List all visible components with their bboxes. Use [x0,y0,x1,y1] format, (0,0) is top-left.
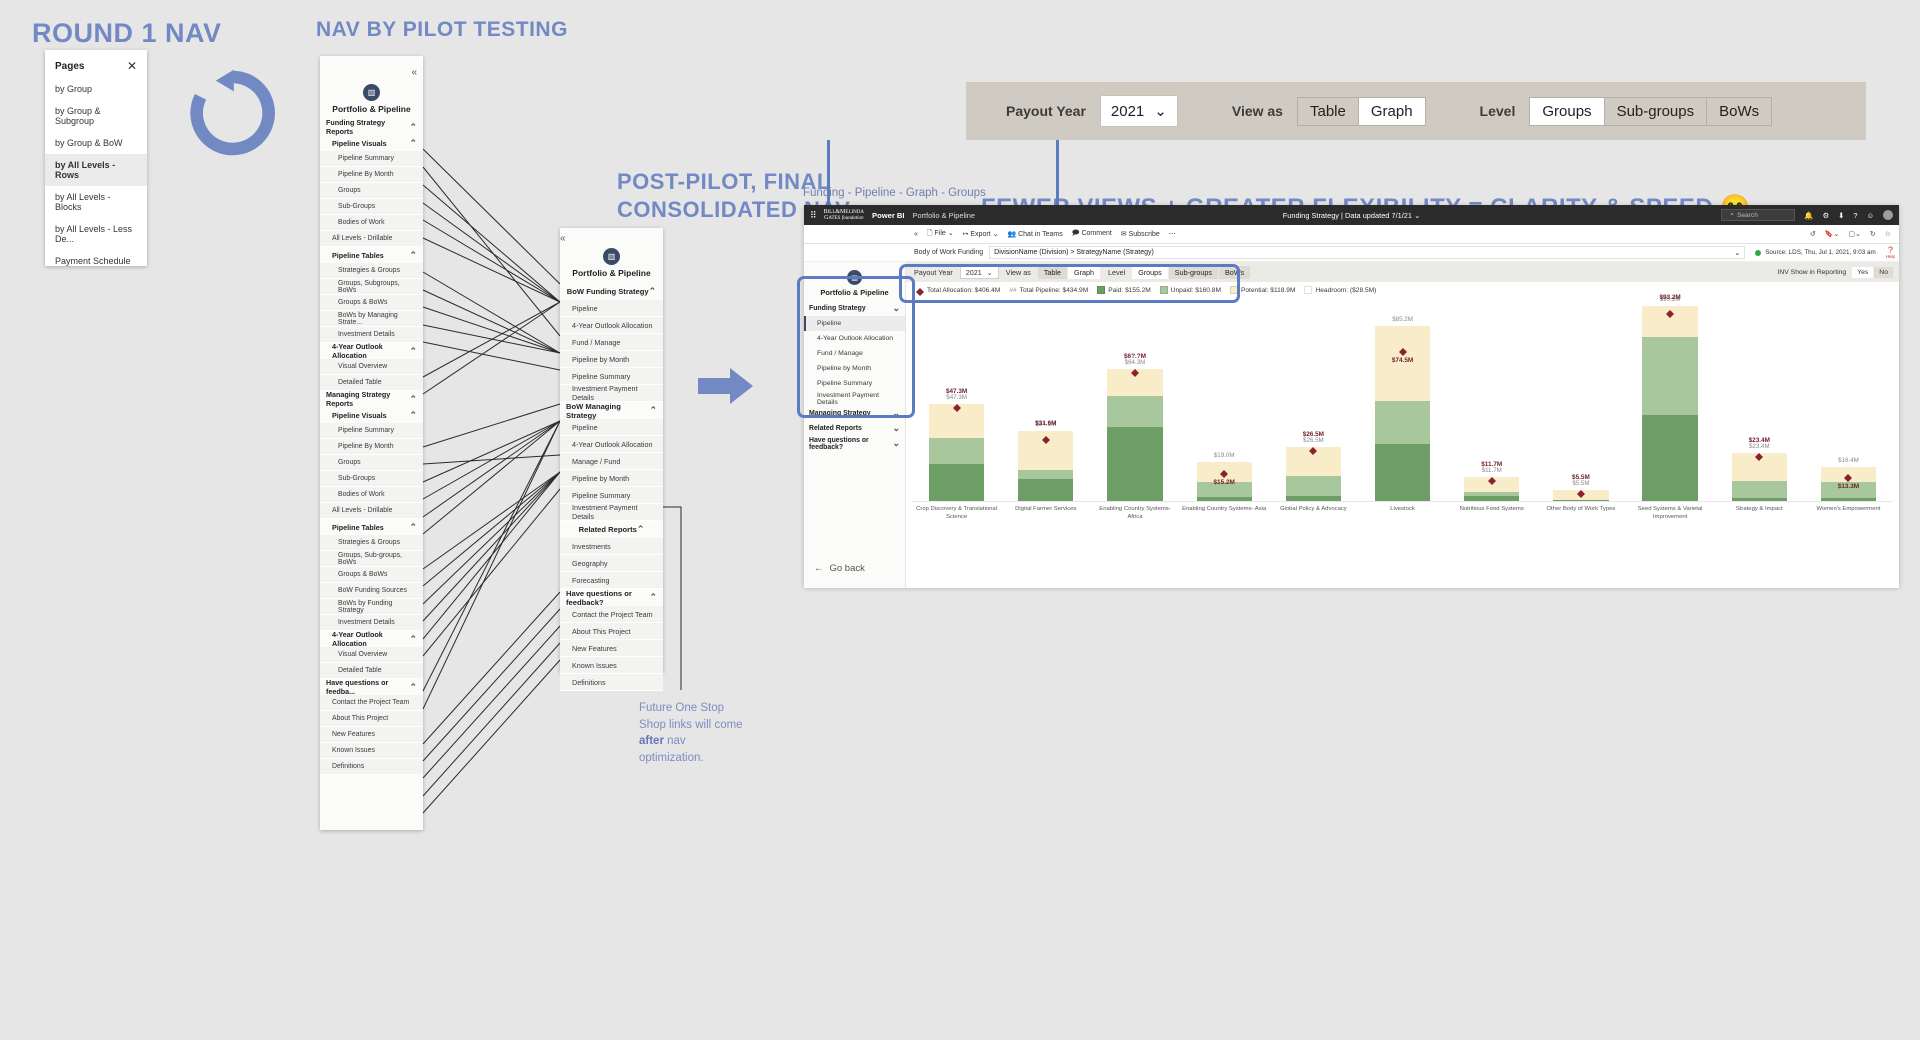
chevron-up-icon[interactable]: ⌃ [409,522,417,533]
final-nav-item[interactable]: Pipeline by Month [560,351,663,368]
final-nav-list: BoW Funding Strategy⌃Pipeline4-Year Outl… [560,283,663,691]
chevron-up-icon[interactable]: ⌃ [409,634,417,645]
close-icon[interactable]: ✕ [127,60,137,72]
refresh-icon[interactable]: ↻ [1870,230,1876,238]
chart-bar[interactable]: $47.3M$47.3M [912,296,1001,501]
segment-paid [929,464,984,501]
pilot-nav-item[interactable]: Strategies & Groups [320,263,423,279]
bar-stack: $85.2M$74.5M [1375,326,1430,501]
breadcrumb: Funding - Pipeline - Graph - Groups [803,187,986,199]
pilot-nav-label: Bodies of Work [338,219,385,226]
final-nav-label: Pipeline Summary [572,491,630,500]
bar-stack: $23.4M$23.4M [1732,453,1787,501]
final-nav-label: Contact the Project Team [572,610,653,619]
x-axis-tick-label: Enabling Country Systems- Africa [1090,506,1179,521]
pilot-nav-group[interactable]: 4-Year Outlook Allocation⌃ [320,343,423,359]
pilot-nav-label: Sub-Groups [338,203,375,210]
pilot-nav-group[interactable]: Pipeline Tables⌃ [320,519,423,535]
chart-bar[interactable]: $85.2M$74.5M [1358,296,1447,501]
round1-page-item-label: by All Levels - Rows [55,160,115,180]
pilot-nav-group[interactable]: Funding Strategy Reports⌃ [320,119,423,135]
reset-icon[interactable]: ↺ [1810,230,1816,238]
pilot-nav-item[interactable]: Strategies & Groups [320,535,423,551]
view-as-option[interactable]: Table [1298,98,1359,125]
final-nav-label: Have questions or feedback? [566,589,649,607]
pilot-nav-label: Pipeline Summary [338,155,394,162]
pilot-nav-label: Known Issues [332,747,375,754]
pilot-nav-label: Pipeline Visuals [332,411,387,420]
bar-stack: $47.3M$47.3M [929,404,984,501]
segment-unpaid [1642,337,1697,415]
chart-bar[interactable]: $95.2M$93.2M [1626,296,1715,501]
final-nav-item[interactable]: Pipeline Summary [560,487,663,504]
pilot-nav-label: Pipeline Visuals [332,139,387,148]
final-nav-item[interactable]: Known Issues [560,657,663,674]
final-nav-label: Forecasting [572,576,610,585]
final-nav-item[interactable]: New Features [560,640,663,657]
pilot-nav-item[interactable]: BoWs by Funding Strategy [320,599,423,615]
chevron-up-icon[interactable]: ⌃ [649,592,657,603]
round1-panel-title: Pages [55,61,84,72]
pilot-nav-item[interactable]: Bodies of Work [320,215,423,231]
collapse-icon[interactable]: « [411,67,417,78]
round1-page-item-label: by Group & BoW [55,138,123,148]
total-allocation-label: $31.6M [1004,420,1087,427]
round1-page-list: by Groupby Group & Subgroupby Group & Bo… [45,78,147,272]
final-nav-group[interactable]: BoW Managing Strategy⌃ [560,402,663,419]
pilot-nav-label: 4-Year Outlook Allocation [332,630,409,648]
portfolio-pipeline-logo-icon: ▥ [603,248,620,265]
pilot-nav-label: BoWs by Funding Strategy [338,600,417,614]
pilot-nav-item[interactable]: Groups, Subgroups, BoWs [320,279,423,295]
pilot-nav-item[interactable]: Groups & BoWs [320,567,423,583]
pilot-nav-item[interactable]: All Levels - Drillable [320,231,423,247]
report-title-text: Funding Strategy | Data updated 7/1/21 [1283,211,1412,220]
final-nav-item[interactable]: Forecasting [560,572,663,589]
segment-paid [1642,415,1697,501]
chart-bar[interactable]: $34.2M$31.6M [1001,296,1090,501]
footnote-line-2: Shop links will [639,719,711,731]
inv-show-in-reporting-option[interactable]: No [1874,267,1893,278]
final-nav-item[interactable]: Pipeline [560,300,663,317]
collapse-icon[interactable]: « [560,233,566,244]
pilot-nav-label: Visual Overview [338,651,387,658]
chevron-up-icon[interactable]: ⌃ [409,138,417,149]
segment-unpaid [1375,401,1430,444]
report-canvas: Payout Year 2021 ⌄ View as TableGraph Le… [906,262,1899,588]
final-nav-label: Pipeline Summary [572,372,630,381]
pilot-nav-item[interactable]: Investment Details [320,327,423,343]
app-nav-group[interactable]: Have questions or feedback?⌄ [804,436,905,451]
pilot-nav-group[interactable]: Have questions or feedba...⌃ [320,679,423,695]
payout-year-select[interactable]: 2021 ⌄ [1100,95,1178,127]
file-menu-label: File [934,230,945,237]
chart-bar[interactable]: $11.7M$11.7M [1447,296,1536,501]
final-nav-label: About This Project [572,627,631,636]
powerbi-report-screenshot: ⠿ BILL&MELINDA GATES foundation Power BI… [804,205,1899,587]
logo-line-1: BILL&MELINDA [824,209,864,215]
pilot-nav-label: Groups [338,459,361,466]
chevron-up-icon[interactable]: ⌃ [637,524,645,535]
total-allocation-marker [1666,306,1674,314]
round1-pages-panel: Pages ✕ by Groupby Group & Subgroupby Gr… [45,50,147,266]
final-nav-label: Pipeline [572,304,598,313]
search-placeholder: Search [1737,212,1758,219]
chevron-up-icon[interactable]: ⌃ [409,410,417,421]
chart-bar[interactable]: $19.0M$15.2M [1180,296,1269,501]
segment-paid [1018,479,1073,501]
pilot-nav-label: Funding Strategy Reports [326,118,409,136]
annotation-highlight-controls [899,264,1240,303]
pilot-nav-item[interactable]: Groups, Sub-groups, BoWs [320,551,423,567]
total-allocation-marker [1220,466,1228,474]
pilot-nav-label: Pipeline By Month [338,443,394,450]
pilot-nav-item[interactable]: About This Project [320,711,423,727]
logo-line-2: GATES foundation [824,215,863,221]
pilot-nav-label: Detailed Table [338,379,382,386]
final-nav-item[interactable]: Contact the Project Team [560,606,663,623]
final-nav-label: Pipeline [572,423,598,432]
download-icon[interactable]: ⬇ [1838,211,1844,220]
help-icon-label: Help [1886,255,1895,260]
arrow-left-icon: ← [814,563,824,574]
pilot-nav-item[interactable]: Groups [320,455,423,471]
x-axis-tick-label: Women's Empowerment [1804,506,1893,521]
app-nav-label: Related Reports [809,425,862,432]
round1-page-item[interactable]: Payment Schedule [45,250,147,272]
pilot-nav-item[interactable]: Sub-Groups [320,199,423,215]
segment-paid [1107,427,1162,501]
segment-paid [1375,444,1430,501]
pilot-nav-label: Visual Overview [338,363,387,370]
file-menu-button[interactable]: 🗋 File ⌄ [927,229,954,240]
pilot-nav-item[interactable]: Pipeline Summary [320,423,423,439]
chart-bar[interactable]: $5.5M$5.5M [1536,296,1625,501]
final-nav-item[interactable]: Pipeline Summary [560,368,663,385]
export-menu-label: Export [970,231,990,238]
pilot-nav-item[interactable]: Detailed Table [320,375,423,391]
search-input[interactable]: ⌕ Search [1721,209,1795,221]
final-nav-label: Investments [572,542,611,551]
pilot-nav-item[interactable]: BoWs by Managing Strate... [320,311,423,327]
slide-canvas: ROUND 1 NAV NAV BY PILOT TESTING POST-PI… [0,0,1920,1040]
chevron-down-icon[interactable]: ⌄ [892,423,900,434]
product-name[interactable]: Power BI [872,211,905,220]
level-option[interactable]: BoWs [1707,98,1771,125]
view-as-segmented-control: TableGraph [1297,97,1426,126]
comment-button[interactable]: 🗩 Comment [1072,229,1112,240]
segment-unpaid [1107,396,1162,427]
report-title-and-data-updated[interactable]: Funding Strategy | Data updated 7/1/21 ⌄ [1283,211,1421,220]
chevron-down-icon[interactable]: ⌄ [892,438,900,449]
final-nav-item[interactable]: About This Project [560,623,663,640]
pilot-nav-item[interactable]: Pipeline Summary [320,151,423,167]
footnote-line-3c: nav [664,735,686,747]
level-option[interactable]: Sub-groups [1605,98,1708,125]
chat-in-teams-button[interactable]: 👥 Chat in Teams [1007,230,1062,238]
pilot-nav-panel: « ▥ Portfolio & Pipeline Funding Strateg… [320,56,423,830]
final-nav-group[interactable]: Related Reports⌃ [560,521,663,538]
settings-gear-icon[interactable]: ⚙ [1822,211,1829,220]
legend-entry[interactable]: Headroom: ($28.5M) [1304,286,1376,294]
total-allocation-label: $47.3M [915,388,998,395]
round1-page-item[interactable]: by Group & Subgroup [45,100,147,132]
final-nav-label: Pipeline by Month [572,355,629,364]
collapse-nav-icon[interactable]: « [914,231,918,238]
final-nav-item[interactable]: Investment Payment Details [560,504,663,521]
arrow-right-icon [698,366,753,406]
round1-page-item-label: by Group & Subgroup [55,106,101,126]
segment-paid [1464,496,1519,501]
final-nav-item[interactable]: Manage / Fund [560,453,663,470]
final-nav-label: Definitions [572,678,606,687]
final-nav-group[interactable]: BoW Funding Strategy⌃ [560,283,663,300]
pilot-nav-item[interactable]: Sub-Groups [320,471,423,487]
pilot-nav-group[interactable]: Pipeline Tables⌃ [320,247,423,263]
avatar[interactable] [1883,210,1893,220]
search-icon: ⌕ [1730,211,1734,219]
heading-nav-by-pilot-testing: NAV BY PILOT TESTING [316,18,568,42]
pilot-nav-label: Contact the Project Team [332,699,409,706]
pilot-nav-label: BoW Funding Sources [338,587,407,594]
total-allocation-marker [1755,449,1763,457]
notifications-icon[interactable]: 🔔 [1804,211,1813,220]
chart-bar[interactable]: $64.3M$6?.?M [1090,296,1179,501]
final-nav-label: Known Issues [572,661,617,670]
pilot-nav-item[interactable]: Known Issues [320,743,423,759]
status-dot-green [1755,250,1761,256]
pilot-nav-label: Sub-Groups [338,475,375,482]
go-back-button[interactable]: ← Go back [814,563,865,574]
final-nav-item[interactable]: Definitions [560,674,663,691]
subscribe-button[interactable]: ✉ Subscribe [1121,230,1160,238]
app-filter-bar: Body of Work Funding DivisionName (Divis… [804,244,1899,262]
callout-control-bar: Payout Year 2021 ⌄ View as TableGraph Le… [966,82,1866,140]
pilot-nav-group[interactable]: 4-Year Outlook Allocation⌃ [320,631,423,647]
pilot-nav-label: BoWs by Managing Strate... [338,312,417,326]
pilot-nav-label: Have questions or feedba... [326,678,409,696]
bar-stack: $11.7M$11.7M [1464,477,1519,501]
pilot-nav-item[interactable]: Groups [320,183,423,199]
chevron-down-icon: ⌄ [1414,211,1420,220]
round1-page-item[interactable]: by All Levels - Less De... [45,218,147,250]
pilot-nav-label: About This Project [332,715,388,722]
pilot-nav-item[interactable]: BoW Funding Sources [320,583,423,599]
pilot-nav-item[interactable]: Pipeline By Month [320,167,423,183]
chat-in-teams-label: Chat in Teams [1018,231,1063,238]
app-launcher-icon[interactable]: ⠿ [810,210,816,221]
help-icon[interactable]: ? Help [1886,246,1899,260]
segment-unpaid [929,438,984,464]
final-nav-item[interactable]: Pipeline by Month [560,470,663,487]
chart-plot-area: $47.3M$47.3M$34.2M$31.6M$64.3M$6?.?M$19.… [912,296,1893,501]
total-allocation-label: $5.5M [1539,474,1622,481]
pilot-nav-item[interactable]: Investment Details [320,615,423,631]
chevron-down-icon: ⌄ [1154,102,1167,120]
round1-page-item-label: by All Levels - Less De... [55,224,132,244]
chart-bar[interactable]: $16.4M$13.3M [1804,296,1893,501]
final-nav-item[interactable]: Pipeline [560,419,663,436]
app-nav-group[interactable]: Related Reports⌄ [804,421,905,436]
bar-total-pipeline-label: $16.4M [1813,457,1885,464]
x-axis-tick-label: Other Body of Work Types [1536,506,1625,521]
final-nav-label: Geography [572,559,608,568]
chevron-up-icon[interactable]: ⌃ [409,122,417,133]
segment-paid [1821,498,1876,501]
portfolio-pipeline-logo-icon: ▥ [363,84,380,101]
pilot-nav-group[interactable]: Managing Strategy Reports⌃ [320,391,423,407]
pilot-nav-label: Investment Details [338,331,395,338]
final-nav-item[interactable]: Investment Payment Details [560,385,663,402]
footnote-emphasis: after [639,735,664,747]
pilot-nav-label: Groups & BoWs [338,571,387,578]
footnote-future-one-stop-shop: Future One Stop Shop links will come aft… [639,700,749,767]
final-nav-item[interactable]: 4-Year Outlook Allocation [560,436,663,453]
round1-page-item-label: by Group [55,84,92,94]
chevron-up-icon[interactable]: ⌃ [409,394,417,405]
pilot-nav-item[interactable]: All Levels - Drillable [320,503,423,519]
pilot-nav-label: Bodies of Work [338,491,385,498]
segment-unpaid [1018,470,1073,479]
total-allocation-marker [1309,443,1317,451]
app-top-bar: ⠿ BILL&MELINDA GATES foundation Power BI… [804,205,1899,225]
final-consolidated-nav-panel: « ▥ Portfolio & Pipeline BoW Funding Str… [560,228,663,672]
inv-show-in-reporting-group: INV Show in Reporting YesNo [1777,267,1899,278]
pilot-nav-item[interactable]: Pipeline By Month [320,439,423,455]
x-axis-tick-label: Enabling Country Systems- Asia [1180,506,1269,521]
final-nav-label: Investment Payment Details [572,384,657,402]
workspace-name[interactable]: Portfolio & Pipeline [913,211,975,220]
hierarchy-filter-select[interactable]: DivisionName (Division) > StrategyName (… [989,246,1745,259]
pilot-nav-item[interactable]: Definitions [320,759,423,775]
chart-bar[interactable]: $23.4M$23.4M [1715,296,1804,501]
level-segmented-control: GroupsSub-groupsBoWs [1529,97,1772,126]
chevron-up-icon[interactable]: ⌃ [649,286,657,297]
final-nav-item[interactable]: Fund / Manage [560,334,663,351]
payout-year-label: Payout Year [1006,103,1086,119]
pilot-nav-item[interactable]: New Features [320,727,423,743]
view-as-option[interactable]: Graph [1359,98,1425,125]
inv-show-in-reporting-option[interactable]: Yes [1852,267,1873,278]
round1-panel-header: Pages ✕ [45,50,147,78]
chart-bar[interactable]: $26.5M$26.5M [1269,296,1358,501]
favorite-star-icon[interactable]: ☆ [1885,230,1891,238]
refresh-cycle-icon [186,68,278,158]
inv-yes-no-toggle: YesNo [1851,267,1893,278]
pilot-nav-group[interactable]: Pipeline Visuals⌃ [320,135,423,151]
total-allocation-marker [1488,473,1496,481]
total-allocation-label: $93.2M [1629,294,1712,301]
round1-page-item[interactable]: by All Levels - Blocks [45,186,147,218]
feedback-smiley-icon[interactable]: ☺ [1866,211,1874,220]
segment-paid [1732,498,1787,501]
stacked-bar-chart: $47.3M$47.3M$34.2M$31.6M$64.3M$6?.?M$19.… [906,296,1899,558]
go-back-label: Go back [830,563,865,574]
total-allocation-marker [953,400,961,408]
final-nav-label: Investment Payment Details [572,503,657,521]
final-nav-label: New Features [572,644,617,653]
chevron-up-icon[interactable]: ⌃ [649,405,657,416]
data-source-note: Source: LDS, Thu, Jul 1, 2021, 9:03 am [1751,249,1880,256]
round1-page-item[interactable]: by Group & BoW [45,132,147,154]
export-menu-button[interactable]: ↦ Export ⌄ [963,230,999,238]
total-allocation-label: $11.7M [1450,461,1533,468]
total-allocation-label: $13.3M [1807,483,1890,490]
round1-page-item-label: Payment Schedule [55,256,131,266]
chevron-down-icon: ⌄ [1734,249,1740,257]
pilot-nav-item[interactable]: Visual Overview [320,359,423,375]
final-nav-label: 4-Year Outlook Allocation [572,440,652,449]
pilot-nav-item[interactable]: Detailed Table [320,663,423,679]
bar-stack: $16.4M$13.3M [1821,467,1876,501]
footnote-line-1: Future One Stop [639,702,724,714]
pilot-nav-label: Investment Details [338,619,395,626]
round1-page-item[interactable]: by All Levels - Rows [45,154,147,186]
segment-paid [1197,497,1252,501]
pilot-nav-item[interactable]: Groups & BoWs [320,295,423,311]
pilot-nav-item[interactable]: Contact the Project Team [320,695,423,711]
pilot-nav-label: Pipeline Tables [332,523,384,532]
chevron-up-icon[interactable]: ⌃ [409,682,417,693]
bar-stack: $5.5M$5.5M [1553,490,1608,501]
pilot-nav-label: Groups, Sub-groups, BoWs [338,552,417,566]
round1-page-item[interactable]: by Group [45,78,147,100]
help-question-icon[interactable]: ? [1853,211,1857,220]
total-allocation-label: $15.2M [1183,479,1266,486]
more-options-icon[interactable]: ⋯ [1169,230,1176,238]
pilot-nav-label: Definitions [332,763,364,770]
annotation-highlight-nav [797,276,915,418]
final-nav-item[interactable]: Geography [560,555,663,572]
pilot-nav-group[interactable]: Pipeline Visuals⌃ [320,407,423,423]
pilot-nav-label: All Levels - Drillable [332,235,393,242]
final-nav-item[interactable]: Investments [560,538,663,555]
final-nav-label: 4-Year Outlook Allocation [572,321,652,330]
pilot-nav-label: Groups [338,187,361,194]
pilot-nav-label: Pipeline Tables [332,251,384,260]
body-of-work-funding-label: Body of Work Funding [914,249,983,256]
total-allocation-marker [1399,344,1407,352]
pilot-nav-label: Strategies & Groups [338,267,400,274]
final-nav-group[interactable]: Have questions or feedback?⌃ [560,589,663,606]
chevron-up-icon[interactable]: ⌃ [409,346,417,357]
pilot-nav-item[interactable]: Visual Overview [320,647,423,663]
level-label: Level [1480,103,1516,119]
inv-show-in-reporting-label: INV Show in Reporting [1777,269,1846,276]
data-source-text: Source: LDS, Thu, Jul 1, 2021, 9:03 am [1765,249,1876,256]
bar-stack: $34.2M$31.6M [1018,431,1073,501]
chevron-up-icon[interactable]: ⌃ [409,250,417,261]
x-axis-tick-label: Crop Discovery & Translational Science [912,506,1001,521]
pilot-nav-item[interactable]: Bodies of Work [320,487,423,503]
bookmark-icon[interactable]: 🔖⌄ [1825,230,1840,238]
pilot-nav-label: New Features [332,731,375,738]
view-icon[interactable]: ▢⌄ [1848,230,1860,238]
total-allocation-marker [1577,486,1585,494]
pilot-nav-list: Funding Strategy Reports⌃Pipeline Visual… [320,119,423,775]
pilot-nav-label: Managing Strategy Reports [326,390,409,408]
footnote-line-3a: come [714,719,742,731]
view-as-label: View as [1232,103,1283,119]
final-panel-collapse-row: « [560,228,663,246]
bar-stack: $19.0M$15.2M [1197,462,1252,501]
gates-foundation-logo: BILL&MELINDA GATES foundation [824,209,864,222]
final-nav-label: BoW Funding Strategy [567,287,649,296]
chart-x-axis: Crop Discovery & Translational ScienceDi… [912,501,1893,521]
payout-year-value: 2021 [1111,103,1144,120]
level-option[interactable]: Groups [1530,98,1604,125]
final-nav-item[interactable]: 4-Year Outlook Allocation [560,317,663,334]
